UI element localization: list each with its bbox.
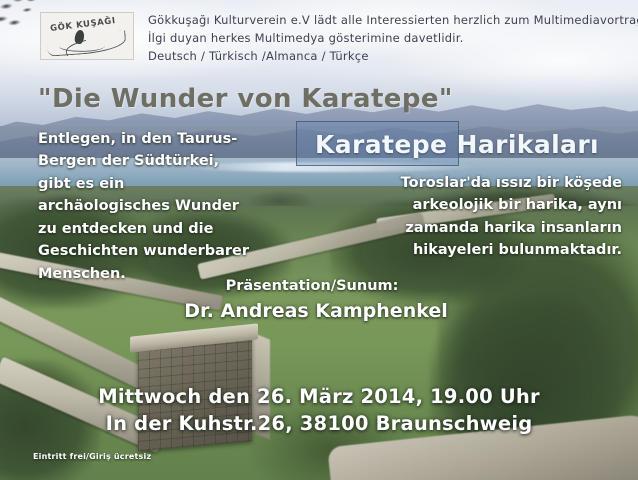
poster-header: GÖK KUŞAĞI Gökkuşağı Kulturverein e.V lä… — [0, 12, 638, 65]
organization-logo: GÖK KUŞAĞI — [40, 12, 134, 60]
event-address: In der Kuhstr.26, 38100 Braunschweig — [0, 412, 638, 435]
title-german: "Die Wunder von Karatepe" — [38, 84, 453, 114]
header-line-turkish: İlgi duyan herkes Multimedya gösterimine… — [148, 30, 638, 48]
free-entry-note: Eintritt frei/Giriş ücretsiz — [33, 452, 151, 461]
title-turkish: Karatepe Harikaları — [315, 130, 599, 159]
body-text-german: Entlegen, in den Taurus-Bergen der Südtü… — [38, 128, 253, 285]
presenter-label: Präsentation/Sunum: — [0, 278, 638, 294]
header-languages: Deutsch / Türkisch /Almanca / Türkçe — [148, 48, 638, 66]
poster-content: GÖK KUŞAĞI Gökkuşağı Kulturverein e.V lä… — [0, 0, 638, 480]
body-text-turkish: Toroslar'da ıssız bir köşede arkeolojik … — [392, 172, 622, 262]
header-text-block: Gökkuşağı Kulturverein e.V lädt alle Int… — [148, 12, 638, 65]
presenter-name: Dr. Andreas Kamphenkel — [0, 300, 638, 322]
event-poster: GÖK KUŞAĞI Gökkuşağı Kulturverein e.V lä… — [0, 0, 638, 480]
event-date: Mittwoch den 26. März 2014, 19.00 Uhr — [0, 385, 638, 408]
header-line-german: Gökkuşağı Kulturverein e.V lädt alle Int… — [148, 12, 638, 30]
